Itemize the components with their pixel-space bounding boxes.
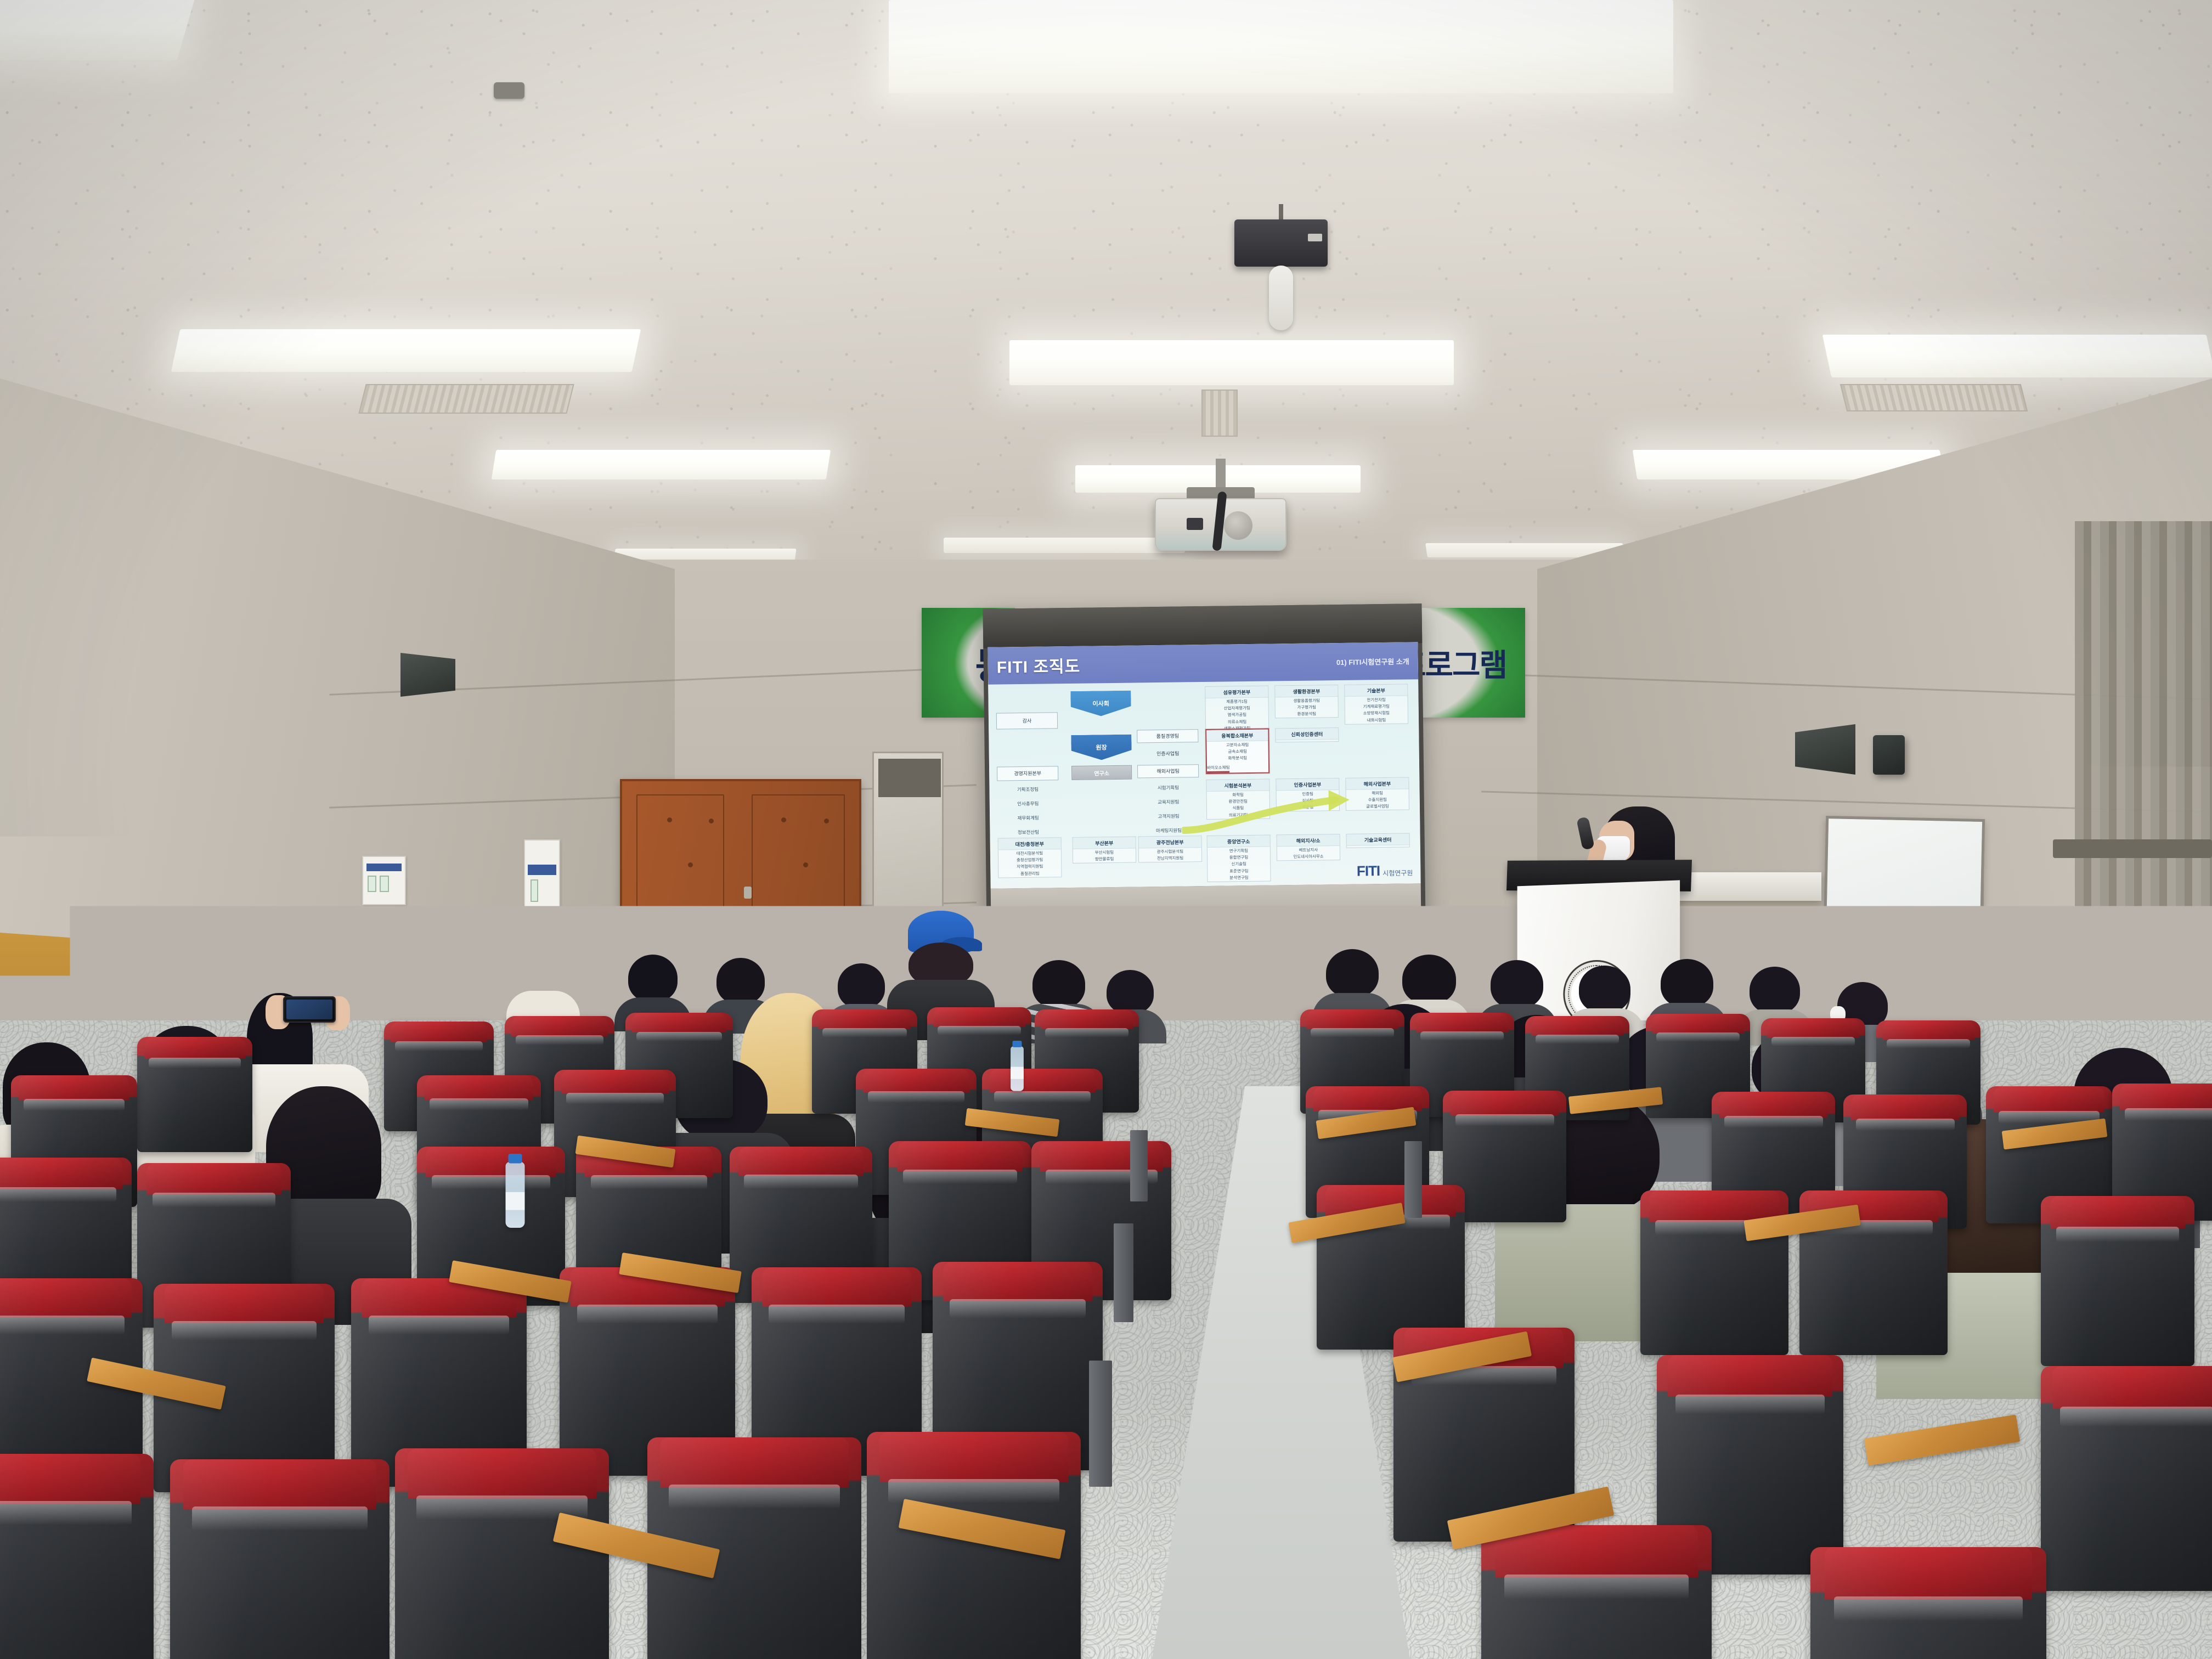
air-vent-center	[1201, 390, 1238, 437]
org-node-board: 이사회	[1070, 691, 1131, 716]
org-dept-11: 중앙연구소 연구기획팀 융합연구팀 신기술팀 표준연구팀 분석연구팀	[1207, 835, 1271, 882]
head	[1402, 955, 1456, 1004]
door-handle-right[interactable]	[754, 916, 765, 922]
slide: FITI 조직도 01) FITI시험연구원 소개 이사회 원장 감사 경영지원…	[988, 642, 1420, 889]
org-node-left-group-header: 경영지원본부	[997, 766, 1058, 781]
org-dept-10: 광주전남본부 광주시험분석팀 전남지역지원팀	[1138, 836, 1203, 862]
whiteboard[interactable]	[1822, 816, 1985, 989]
org-dept-12: 해외지사/소 베트남지사 인도네시아사무소	[1277, 834, 1341, 861]
screen-bottom-skirt	[991, 883, 1421, 923]
head	[1661, 959, 1713, 1007]
screen-top-bar	[983, 603, 1422, 648]
head	[1579, 966, 1630, 1013]
org-node-research-lab: 연구소	[1071, 765, 1132, 780]
projection-screen: FITI 조직도 01) FITI시험연구원 소개 이사회 원장 감사 경영지원…	[983, 603, 1425, 927]
seat[interactable]	[170, 1459, 390, 1659]
smartphone[interactable]	[283, 996, 336, 1023]
ceiling-light-3	[171, 329, 641, 372]
fiti-logo-text: 시험연구원	[1383, 868, 1413, 879]
org-dept-3-highlighted: 융복합소재본부 고분자소재팀 금속소재팀 화학분석팀 바이오소재팀	[1205, 729, 1269, 774]
org-dept-1: 생활환경본부 생활용품평가팀 가구평가팀 환경분석팀	[1274, 685, 1339, 719]
curtain-rod	[2053, 839, 2212, 858]
seat-leg	[1089, 1361, 1112, 1487]
ceiling-light-6	[492, 450, 831, 479]
torso	[411, 979, 494, 1012]
head	[1326, 949, 1379, 997]
face-mask-icon	[540, 970, 555, 986]
seat[interactable]	[1640, 1190, 1788, 1355]
wall-speaker-left	[400, 653, 455, 697]
light-switch-plate-left[interactable]	[362, 856, 406, 905]
seat[interactable]	[2041, 1196, 2194, 1366]
seat-leg	[1130, 1130, 1148, 1201]
wall-speaker-right	[1795, 724, 1855, 775]
seat[interactable]	[137, 1037, 252, 1152]
head	[1750, 967, 1800, 1014]
water-bottle[interactable]	[1011, 1046, 1024, 1091]
door-lock-icon	[744, 887, 752, 899]
seat[interactable]	[395, 1448, 609, 1659]
ceiling-light-1	[0, 0, 196, 60]
head	[1107, 970, 1154, 1014]
org-left-item-0: 기획조정팀	[992, 786, 1063, 793]
seat-leg	[1426, 1245, 1446, 1350]
ceiling-light-5	[1822, 335, 2212, 377]
slide-title: FITI 조직도	[996, 653, 1080, 678]
water-bottle[interactable]	[1463, 1184, 1485, 1260]
org-mid-stack-0: 품질경영팀	[1137, 729, 1198, 743]
org-mid-stack-1: 인증사업팀	[1137, 747, 1199, 760]
table-item-box	[823, 937, 871, 953]
fiti-logo: FITI 시험연구원	[1357, 862, 1413, 879]
audience-person-far-1	[417, 933, 488, 1004]
head	[1491, 960, 1543, 1008]
seat[interactable]	[2041, 1366, 2212, 1591]
audience-person-far-2	[510, 950, 576, 1016]
ceiling-light-9	[944, 538, 1185, 553]
lecture-hall-photo: 동 프로그램	[0, 0, 2212, 1659]
slide-body: 이사회 원장 감사 경영지원본부 기획조정팀 인사총무팀 재무회계팀 정보전산팀…	[988, 679, 1420, 889]
seat[interactable]	[1810, 1547, 2046, 1659]
org-mid-stack-2: 해외사업팀	[1137, 764, 1199, 778]
org-left-item-3: 정보전산팀	[992, 828, 1064, 836]
highlight-arrow-icon	[1182, 788, 1358, 839]
screen-surface: FITI 조직도 01) FITI시험연구원 소개 이사회 원장 감사 경영지원…	[988, 642, 1420, 889]
org-node-director: 원장	[1071, 735, 1132, 760]
seat-leg	[1459, 1383, 1482, 1514]
hair	[426, 933, 479, 983]
head	[628, 955, 678, 1002]
head	[1032, 960, 1085, 1008]
light-switch-plate-right[interactable]	[524, 839, 560, 909]
table-item-navy	[795, 964, 826, 973]
ceiling-light-2	[889, 0, 1673, 93]
table-item-papers	[748, 940, 814, 953]
seat-leg	[1404, 1141, 1422, 1218]
seat[interactable]	[0, 1454, 154, 1659]
air-vent-left	[358, 384, 574, 414]
org-left-item-2: 재무회계팀	[992, 814, 1064, 822]
fiti-logo-mark: FITI	[1357, 862, 1380, 880]
slide-kicker: 01) FITI시험연구원 소개	[1336, 656, 1409, 667]
org-dept-8: 대전/충청본부 대전시험분석팀 충청산업평가팀 지역협력지원팀 품질관리팀	[998, 837, 1062, 878]
water-bottle[interactable]	[506, 1162, 525, 1228]
smoke-detector-icon	[494, 82, 524, 99]
org-left-item-1: 인사총무팀	[992, 800, 1064, 808]
door-handle-left[interactable]	[722, 917, 751, 923]
seat[interactable]	[1481, 1525, 1712, 1659]
cabinet-panel	[878, 759, 941, 797]
org-dept-9: 부산본부 부산시험팀 항만물류팀	[1073, 837, 1137, 864]
seat-leg	[1114, 1223, 1133, 1322]
air-vent-right	[1840, 384, 2028, 411]
org-dept-2: 기술본부 전기전자팀 기계재료평가팀 소방방재시험팀 내화시험팀	[1344, 684, 1408, 724]
org-node-audit: 감사	[996, 712, 1058, 729]
wall-speaker-right-2	[1873, 735, 1905, 775]
org-dept-4: 신뢰성인증센터	[1275, 727, 1339, 742]
slide-header: FITI 조직도 01) FITI시험연구원 소개	[988, 642, 1418, 685]
ceiling-light-4	[1009, 340, 1454, 385]
